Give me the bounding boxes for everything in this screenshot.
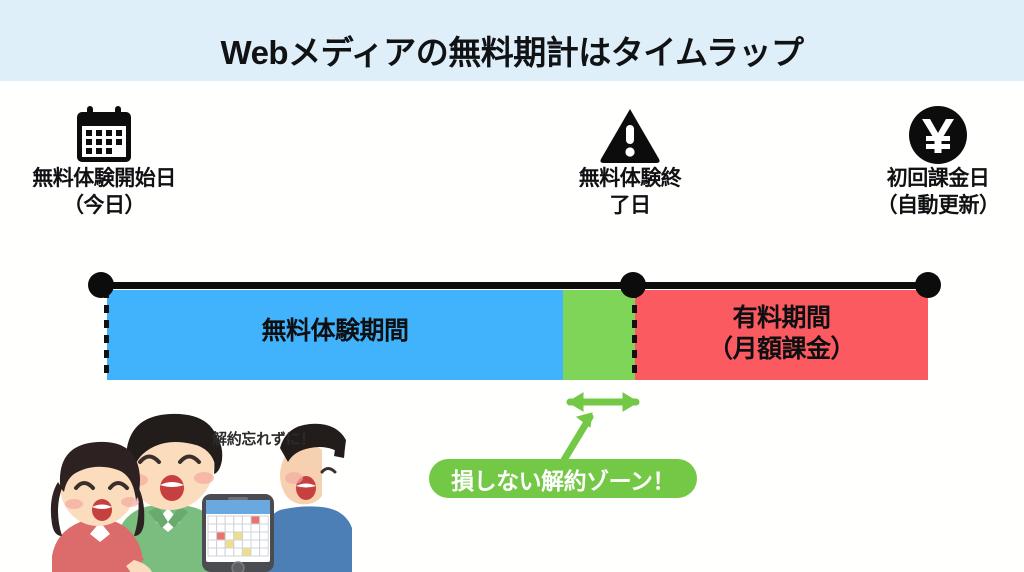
milestone-first-billing: 初回課金日 （自動更新） — [852, 104, 1024, 220]
warning-triangle-icon — [552, 104, 708, 166]
axis-dot-end — [620, 272, 646, 298]
timeline-segment-safe-cancel-zone — [563, 290, 635, 380]
people-illustration — [22, 398, 352, 572]
milestone-free-trial-end: 無料体験終 了日 — [552, 104, 708, 220]
zone-callout-pill: 損しない解約ゾーン！ — [429, 459, 697, 498]
axis-dot-start — [88, 272, 114, 298]
page-title: Webメディアの無料期計はタイムラップ — [0, 26, 1024, 74]
milestone-label: 初回課金日 （自動更新） — [852, 166, 1024, 220]
timeline-axis — [101, 282, 929, 289]
illustration-speech-text: 解約忘れずに！ — [212, 428, 315, 449]
slide-canvas: Webメディアの無料期計はタイムラップ — [0, 0, 1024, 572]
segment-label-paid-period: 有料期間 （月額課金） — [635, 303, 928, 364]
milestone-free-trial-start: 無料体験開始日 （今日） — [0, 104, 208, 220]
axis-dot-billing — [915, 272, 941, 298]
milestone-label: 無料体験開始日 （今日） — [0, 166, 208, 220]
calendar-icon — [0, 104, 208, 166]
milestone-label: 無料体験終 了日 — [552, 166, 708, 220]
yen-circle-icon — [852, 104, 1024, 166]
smartphone-calendar — [202, 494, 274, 572]
zone-callout-text: 損しない解約ゾーン！ — [451, 462, 675, 496]
segment-label-free-trial: 無料体験期間 — [107, 316, 563, 347]
